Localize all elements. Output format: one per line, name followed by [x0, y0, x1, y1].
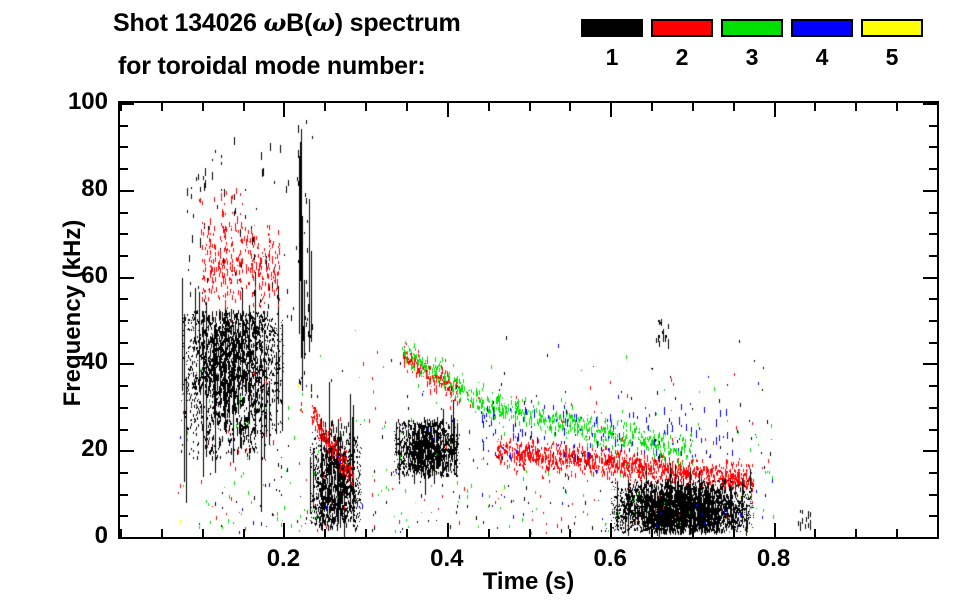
legend-swatch-black — [581, 19, 643, 37]
y-tick-left — [120, 190, 134, 192]
x-tick-label: 0.8 — [739, 545, 809, 573]
y-tick-left — [120, 125, 128, 127]
x-tick-bottom — [324, 529, 326, 537]
legend-label-4: 4 — [791, 45, 853, 69]
x-tick-top — [814, 103, 816, 111]
y-tick-right — [929, 320, 937, 322]
x-tick-top — [283, 103, 285, 117]
x-axis-label: Time (s) — [120, 568, 937, 596]
x-tick-top — [529, 103, 531, 111]
x-tick-top — [202, 103, 204, 111]
x-tick-bottom — [814, 529, 816, 537]
y-tick-label: 60 — [44, 262, 108, 290]
x-tick-top — [243, 103, 245, 111]
x-tick-top — [896, 103, 898, 111]
y-tick-right — [923, 450, 937, 452]
y-tick-right — [923, 190, 937, 192]
x-tick-top — [937, 103, 939, 111]
y-tick-left — [120, 103, 134, 105]
legend-label-3: 3 — [721, 45, 783, 69]
y-tick-right — [923, 537, 937, 539]
omega-symbol-1: ω — [263, 8, 286, 37]
x-tick-bottom — [774, 523, 776, 537]
x-tick-bottom — [365, 529, 367, 537]
x-tick-bottom — [651, 529, 653, 537]
legend-label-2: 2 — [651, 45, 713, 69]
title-text-shot: Shot 134026 — [113, 9, 263, 37]
x-tick-bottom — [569, 529, 571, 537]
y-tick-right — [929, 429, 937, 431]
y-tick-right — [923, 103, 937, 105]
y-tick-right — [923, 363, 937, 365]
x-tick-bottom — [610, 523, 612, 537]
y-tick-right — [929, 255, 937, 257]
x-tick-top — [365, 103, 367, 111]
y-tick-left — [120, 429, 128, 431]
chart-title-line1: Shot 134026 ωB(ω) spectrum — [113, 8, 461, 38]
y-tick-label: 100 — [44, 88, 108, 116]
y-tick-right — [929, 212, 937, 214]
legend-entry-5: 5 — [861, 19, 923, 69]
y-tick-left — [120, 537, 134, 539]
y-tick-left — [120, 277, 134, 279]
figure-root: Shot 134026 ωB(ω) spectrum for toroidal … — [0, 0, 963, 615]
y-tick-right — [929, 515, 937, 517]
legend-entry-2: 2 — [651, 19, 713, 69]
legend-label-1: 1 — [581, 45, 643, 69]
legend-swatch-green — [721, 19, 783, 37]
y-tick-left — [120, 320, 128, 322]
legend-entry-1: 1 — [581, 19, 643, 69]
y-tick-right — [929, 298, 937, 300]
y-tick-left — [120, 450, 134, 452]
y-tick-right — [929, 342, 937, 344]
y-tick-label: 80 — [44, 175, 108, 203]
y-axis-label: Frequency (kHz) — [59, 183, 87, 443]
x-tick-top — [733, 103, 735, 111]
x-tick-top — [324, 103, 326, 111]
x-tick-bottom — [243, 529, 245, 537]
y-tick-left — [120, 363, 134, 365]
y-tick-right — [929, 125, 937, 127]
legend-swatch-yellow — [861, 19, 923, 37]
y-tick-left — [120, 342, 128, 344]
x-tick-label: 0.2 — [248, 545, 318, 573]
y-tick-label: 20 — [44, 435, 108, 463]
x-tick-top — [610, 103, 612, 117]
x-tick-top — [774, 103, 776, 117]
legend: 12345 — [581, 19, 926, 89]
plot-area: Frequency (kHz) Time (s) 0.20.40.60.8020… — [118, 101, 939, 539]
spectrogram-canvas-layer — [120, 103, 937, 537]
title-text-B: B( — [286, 9, 312, 37]
y-tick-right — [923, 277, 937, 279]
x-tick-bottom — [120, 529, 122, 537]
x-tick-bottom — [896, 529, 898, 537]
chart-title-line2: for toroidal mode number: — [118, 52, 426, 81]
y-tick-left — [120, 407, 128, 409]
x-tick-bottom — [406, 529, 408, 537]
y-tick-left — [120, 212, 128, 214]
x-tick-bottom — [283, 523, 285, 537]
y-tick-left — [120, 298, 128, 300]
x-tick-label: 0.6 — [575, 545, 645, 573]
x-tick-top — [651, 103, 653, 111]
x-tick-bottom — [447, 523, 449, 537]
y-tick-left — [120, 472, 128, 474]
x-tick-top — [488, 103, 490, 111]
x-tick-bottom — [692, 529, 694, 537]
legend-entry-3: 3 — [721, 19, 783, 69]
y-tick-left — [120, 385, 128, 387]
legend-entry-4: 4 — [791, 19, 853, 69]
x-tick-bottom — [488, 529, 490, 537]
y-tick-label: 0 — [44, 522, 108, 550]
y-tick-left — [120, 494, 128, 496]
x-tick-label: 0.4 — [412, 545, 482, 573]
legend-label-5: 5 — [861, 45, 923, 69]
x-tick-bottom — [937, 529, 939, 537]
x-tick-top — [406, 103, 408, 111]
y-tick-right — [929, 407, 937, 409]
y-tick-right — [929, 233, 937, 235]
y-tick-right — [929, 168, 937, 170]
y-tick-right — [929, 494, 937, 496]
x-tick-bottom — [161, 529, 163, 537]
y-tick-left — [120, 146, 128, 148]
legend-swatch-red — [651, 19, 713, 37]
y-tick-right — [929, 385, 937, 387]
spectrogram-plot — [120, 103, 937, 537]
omega-symbol-2: ω — [312, 8, 335, 37]
y-tick-right — [929, 146, 937, 148]
y-tick-right — [929, 472, 937, 474]
x-tick-bottom — [733, 529, 735, 537]
x-tick-bottom — [202, 529, 204, 537]
y-tick-label: 40 — [44, 348, 108, 376]
x-tick-top — [161, 103, 163, 111]
x-tick-top — [569, 103, 571, 111]
x-tick-top — [447, 103, 449, 117]
x-tick-bottom — [529, 529, 531, 537]
y-tick-left — [120, 168, 128, 170]
title-text-spectrum: ) spectrum — [335, 9, 461, 37]
legend-swatch-blue — [791, 19, 853, 37]
x-tick-top — [692, 103, 694, 111]
x-tick-bottom — [855, 529, 857, 537]
y-tick-left — [120, 255, 128, 257]
y-tick-left — [120, 233, 128, 235]
y-tick-left — [120, 515, 128, 517]
x-tick-top — [855, 103, 857, 111]
